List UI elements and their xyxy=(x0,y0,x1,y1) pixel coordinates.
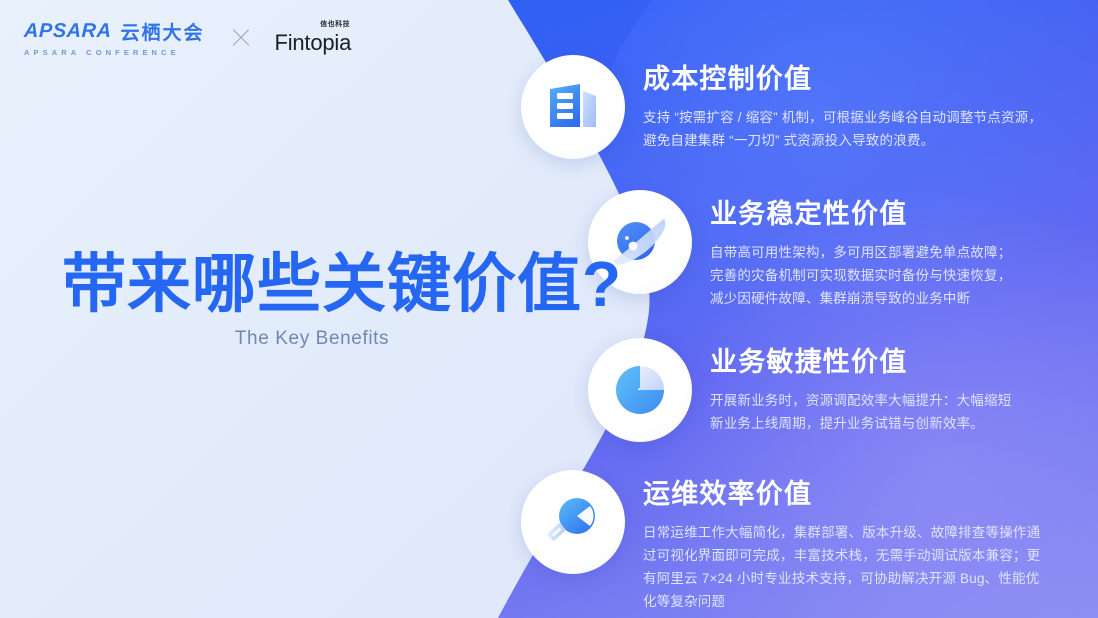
benefit-text-block: 业务稳定性价值 自带高可用性架构，多可用区部署避免单点故障；完善的灾备机制可实现… xyxy=(692,190,1020,310)
cross-separator-icon xyxy=(230,27,252,49)
benefit-text-block: 成本控制价值 支持 “按需扩容 / 缩容” 机制，可根据业务峰谷自动调整节点资源… xyxy=(625,55,1043,152)
header-logos: APSARA 云栖大会 APSARA CONFERENCE 信也科技 Finto… xyxy=(24,18,351,57)
benefit-description: 支持 “按需扩容 / 缩容” 机制，可根据业务峰谷自动调整节点资源，避免自建集群… xyxy=(643,106,1043,152)
page-subtitle: The Key Benefits xyxy=(62,328,562,350)
benefit-description: 自带高可用性架构，多可用区部署避免单点故障；完善的灾备机制可实现数据实时备份与快… xyxy=(710,241,1020,311)
fintopia-wordmark: Fintopia xyxy=(274,30,351,56)
benefit-title: 运维效率价值 xyxy=(643,480,1043,510)
fintopia-logo: 信也科技 Fintopia xyxy=(274,19,351,56)
fintopia-chinese-name: 信也科技 xyxy=(320,19,350,29)
benefit-item-cost-control: 成本控制价值 支持 “按需扩容 / 缩容” 机制，可根据业务峰谷自动调整节点资源… xyxy=(521,55,1043,159)
slide-root: APSARA 云栖大会 APSARA CONFERENCE 信也科技 Finto… xyxy=(0,0,1098,618)
benefit-text-block: 运维效率价值 日常运维工作大幅简化，集群部署、版本升级、故障排查等操作通过可视化… xyxy=(625,470,1043,614)
apsara-chinese-name: 云栖大会 xyxy=(120,18,204,45)
apsara-subtitle: APSARA CONFERENCE xyxy=(24,48,204,57)
building-icon xyxy=(521,55,625,159)
page-title: 带来哪些关键价值? xyxy=(62,252,582,316)
benefit-title: 业务稳定性价值 xyxy=(710,200,1020,230)
pie-chart-icon xyxy=(588,338,692,442)
benefit-description: 日常运维工作大幅简化，集群部署、版本升级、故障排查等操作通过可视化界面即可完成，… xyxy=(643,521,1043,614)
benefit-item-stability: 业务稳定性价值 自带高可用性架构，多可用区部署避免单点故障；完善的灾备机制可实现… xyxy=(588,190,1020,310)
apsara-logo-row: APSARA 云栖大会 xyxy=(24,18,204,45)
benefit-item-agility: 业务敏捷性价值 开展新业务时，资源调配效率大幅提升：大幅缩短新业务上线周期，提升… xyxy=(588,338,1020,442)
benefit-description: 开展新业务时，资源调配效率大幅提升：大幅缩短新业务上线周期，提升业务试错与创新效… xyxy=(710,389,1020,435)
benefit-title: 成本控制价值 xyxy=(643,65,1043,95)
benefit-title: 业务敏捷性价值 xyxy=(710,348,1020,378)
apsara-wordmark: APSARA xyxy=(24,20,112,43)
benefit-item-ops-efficiency: 运维效率价值 日常运维工作大幅简化，集群部署、版本升级、故障排查等操作通过可视化… xyxy=(521,470,1043,614)
title-block: 带来哪些关键价值? The Key Benefits xyxy=(62,252,582,350)
apsara-logo: APSARA 云栖大会 APSARA CONFERENCE xyxy=(24,18,204,57)
benefit-text-block: 业务敏捷性价值 开展新业务时，资源调配效率大幅提升：大幅缩短新业务上线周期，提升… xyxy=(692,338,1020,435)
magnifier-icon xyxy=(521,470,625,574)
